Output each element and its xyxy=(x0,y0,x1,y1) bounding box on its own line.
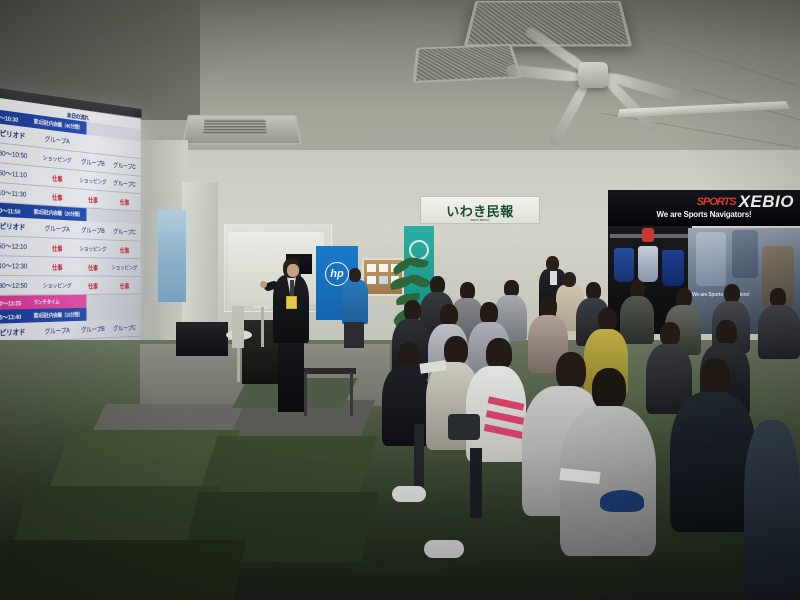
ceiling-ac-vent-icon xyxy=(413,44,523,83)
slide-cell-time: 10:30〜10:50 xyxy=(0,146,38,162)
slide-cell-group-c xyxy=(109,146,139,150)
presenter-face xyxy=(287,264,299,277)
slide-cell-time: 12:10〜12:30 xyxy=(0,260,38,271)
slide-cell-group-c: グループC xyxy=(109,323,139,333)
cap-icon xyxy=(600,490,644,512)
bag-icon xyxy=(448,414,480,440)
xebio-tagline: We are Sports Navigators! xyxy=(608,210,800,219)
slide-cell-group-a: 仕事 xyxy=(38,171,76,184)
slide-band-time: 12:50〜13:25 xyxy=(0,297,34,308)
audience-head xyxy=(398,342,420,369)
slide-cell-group-c: グループC xyxy=(109,160,139,172)
jersey-icon xyxy=(614,248,634,282)
slide-cell-group-b: グループB xyxy=(76,324,109,334)
window-left xyxy=(158,210,186,302)
audience-head xyxy=(444,336,468,365)
poster-figure xyxy=(696,232,726,286)
slide-cell-time: 11:50〜12:10 xyxy=(0,240,38,252)
presenter-hand xyxy=(260,281,267,288)
slide-table-row: 12:10〜12:30仕事仕事ショッピング xyxy=(0,256,141,277)
slide-cell-group-c: 仕事 xyxy=(109,245,139,255)
counter-leg xyxy=(232,306,244,348)
slide-cell-group-c: グループC xyxy=(109,178,139,190)
slide-band-label: ランチタイム xyxy=(34,297,141,306)
xebio-sports-text: SPORTS xyxy=(697,196,736,208)
audience-body xyxy=(620,296,654,344)
chair-leg xyxy=(350,372,353,416)
sign-iwaki-minpo-subtext: IWAKI MINPO xyxy=(421,218,539,222)
jersey-icon xyxy=(662,250,684,286)
chair-frame xyxy=(300,368,356,374)
audience-body xyxy=(744,420,800,600)
photo-scene: いわき民報 IWAKI MINPO SPORTS XEBIO We are Sp… xyxy=(0,0,800,600)
audience-head xyxy=(440,304,458,326)
audience-head xyxy=(660,322,680,346)
slide-cell-time: 第1ピリオド xyxy=(0,126,38,143)
slide-cell-group-b: 仕事 xyxy=(76,193,109,205)
cork-card xyxy=(379,276,388,284)
slide-cell-group-b: ショッピング xyxy=(76,175,109,186)
staff-blue-legs xyxy=(344,322,364,348)
slide-cell-group-a: ショッピング xyxy=(38,153,76,165)
audience-body xyxy=(758,305,800,359)
audience-head xyxy=(404,300,421,321)
slide-cell-group-c: 仕事 xyxy=(109,196,139,207)
presenter-legs xyxy=(278,340,304,412)
slide-cell-time: 11:10〜11:30 xyxy=(0,186,38,200)
slide-cell-group-b: グループB xyxy=(76,156,109,169)
slide-band-label: 第3回社内会議（15分間） xyxy=(34,309,141,319)
staff-suit-shirt xyxy=(550,271,557,285)
sign-iwaki-minpo-text: いわき民報 xyxy=(446,201,514,220)
chair-leg xyxy=(304,372,307,416)
audience-head xyxy=(556,352,586,390)
stool-leg xyxy=(261,307,264,347)
jersey-icon xyxy=(638,246,658,282)
slide-cell-group-b: ショッピング xyxy=(76,244,109,253)
slide-cell-group-c: ショッピング xyxy=(109,263,139,271)
slide-cell-time: 第3ピリオド xyxy=(0,326,38,339)
slide-cell-group-a: 仕事 xyxy=(38,190,76,202)
slide-cell-group-c: 仕事 xyxy=(109,281,139,290)
floor-tile-green xyxy=(198,436,377,496)
slide-table-row: 12:30〜12:50ショッピング仕事仕事 xyxy=(0,276,141,296)
slide-cell-group-a: 仕事 xyxy=(38,242,76,253)
display-accent xyxy=(642,228,654,242)
xebio-wordmark: XEBIO xyxy=(739,192,794,212)
slide-cell-group-a: グループA xyxy=(38,133,76,147)
chair-leg xyxy=(470,448,482,518)
cork-card xyxy=(367,276,376,284)
slide-cell-group-b: 仕事 xyxy=(76,262,109,272)
audience-head xyxy=(480,302,498,324)
staff-beige-head xyxy=(563,272,576,287)
slide-cell-group-b: 仕事 xyxy=(76,281,109,290)
presenter-name-badge xyxy=(286,296,297,309)
cork-card xyxy=(367,264,376,272)
ceiling-vent-left-grille xyxy=(203,119,266,133)
slide-cell-group-b xyxy=(76,142,109,146)
shoe-icon xyxy=(392,486,426,502)
slide-cell-group-b: グループB xyxy=(76,225,109,236)
sign-iwaki-minpo: いわき民報 IWAKI MINPO xyxy=(420,196,540,224)
staff-suit-head xyxy=(546,256,559,271)
audience-head xyxy=(716,320,737,345)
ceiling-fan-hub-icon xyxy=(578,62,608,88)
poster-tagline: We are Sports Navigators! xyxy=(692,292,749,298)
slide-band-time: 11:30〜11:50 xyxy=(0,204,34,216)
slide-cell-group-c: グループC xyxy=(109,226,139,236)
xebio-logo: SPORTS XEBIO xyxy=(622,193,794,211)
cork-card xyxy=(379,264,388,272)
slide-cell-time: 12:30〜12:50 xyxy=(0,280,38,291)
slide-cell-time: 第2ピリオド xyxy=(0,220,38,233)
banner-xebio: SPORTS XEBIO We are Sports Navigators! xyxy=(608,190,800,226)
shoe-icon xyxy=(424,540,464,558)
audience-head xyxy=(700,358,730,396)
printer xyxy=(176,322,228,356)
slide-cell-group-a: グループA xyxy=(38,325,76,336)
chair-leg xyxy=(414,424,424,490)
audience-head xyxy=(592,368,626,410)
audience-head xyxy=(540,296,557,317)
staff-blue-torso xyxy=(342,280,368,324)
slide-cell-group-a: 仕事 xyxy=(38,261,76,271)
slide-cell-time: 10:50〜11:10 xyxy=(0,166,38,181)
slide-cell-group-a: グループA xyxy=(38,223,76,234)
slide-band-time: 13:25〜13:40 xyxy=(0,311,34,322)
poster-figure xyxy=(732,230,758,278)
staff-blue-head xyxy=(349,268,361,282)
audience-head xyxy=(598,308,617,331)
floor-tile-green xyxy=(0,540,246,600)
slide-cell-group-a: ショッピング xyxy=(38,281,76,290)
